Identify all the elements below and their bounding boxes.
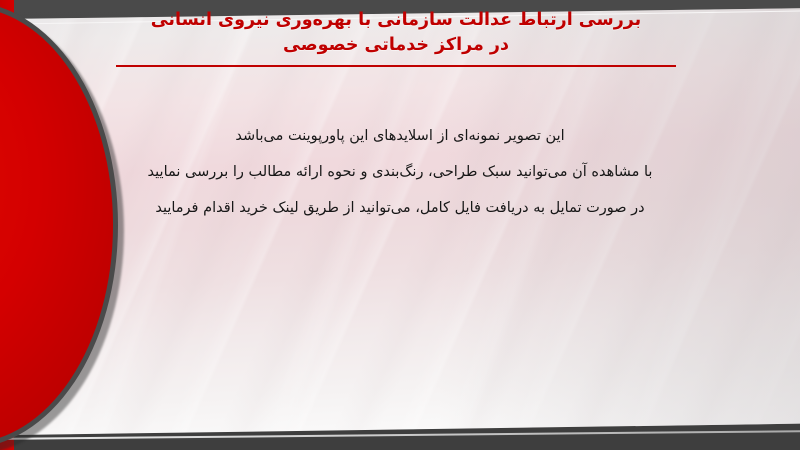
title-divider xyxy=(116,65,676,67)
slide-title: بررسی ارتباط عدالت سازمانی با بهره‌وری ن… xyxy=(96,8,696,67)
body-line-3: در صورت تمایل به دریافت فایل کامل، می‌تو… xyxy=(110,190,690,226)
body-line-1: این تصویر نمونه‌ای از اسلایدهای این پاور… xyxy=(110,118,690,154)
slide-canvas: بررسی ارتباط عدالت سازمانی با بهره‌وری ن… xyxy=(0,0,800,450)
slide-title-line-1: بررسی ارتباط عدالت سازمانی با بهره‌وری ن… xyxy=(96,8,696,33)
slide-title-line-2: در مراکز خدماتی خصوصی xyxy=(96,33,696,58)
body-line-2: با مشاهده آن می‌توانید سبک طراحی، رنگ‌بن… xyxy=(110,154,690,190)
slide-body: این تصویر نمونه‌ای از اسلایدهای این پاور… xyxy=(110,118,690,226)
